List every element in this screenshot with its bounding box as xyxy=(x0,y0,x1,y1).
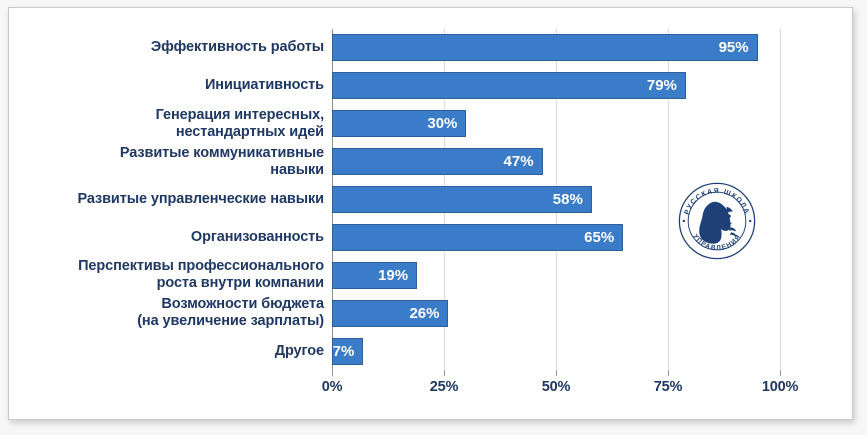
x-axis-tick xyxy=(780,370,781,376)
x-axis-tick-label: 75% xyxy=(654,379,682,395)
category-label: Генерация интересных,нестандартных идей xyxy=(24,107,324,141)
category-label-line: Инициативность xyxy=(24,77,324,94)
x-axis-tick xyxy=(444,370,445,376)
category-label: Возможности бюджета(на увеличение зарпла… xyxy=(24,296,324,330)
category-label: Развитые коммуникативныенавыки xyxy=(24,145,324,179)
x-axis-tick xyxy=(668,370,669,376)
category-label-line: Развитые коммуникативные xyxy=(24,145,324,162)
category-label-line: навыки xyxy=(24,162,324,179)
category-label-line: Другое xyxy=(24,343,324,360)
bar-value-label: 26% xyxy=(332,300,448,327)
bar-value-label: 7% xyxy=(332,338,363,365)
category-label: Инициативность xyxy=(24,77,324,94)
category-label: Другое xyxy=(24,343,324,360)
bar-chart: 0%25%50%75%100%95%Эффективность работы79… xyxy=(9,8,854,421)
bar-row: 19% xyxy=(332,262,780,289)
x-axis-tick-label: 100% xyxy=(762,379,798,395)
bar-value-label: 47% xyxy=(332,148,543,175)
gridline xyxy=(780,29,781,370)
lion-head-icon xyxy=(699,202,737,244)
chart-frame: 0%25%50%75%100%95%Эффективность работы79… xyxy=(8,7,853,420)
category-label-line: Эффективность работы xyxy=(24,39,324,56)
category-label-line: Перспективы профессионального xyxy=(24,258,324,275)
russian-school-of-management-logo: РУССКАЯ ШКОЛА УПРАВЛЕНИЯ xyxy=(677,181,757,261)
bar-value-label: 58% xyxy=(332,186,592,213)
category-label-line: нестандартных идей xyxy=(24,124,324,141)
category-label-line: Возможности бюджета xyxy=(24,296,324,313)
category-label-line: Развитые управленческие навыки xyxy=(24,191,324,208)
x-axis-tick xyxy=(556,370,557,376)
screenshot-root: 0%25%50%75%100%95%Эффективность работы79… xyxy=(0,0,867,435)
x-axis-tick-label: 25% xyxy=(430,379,458,395)
x-axis-tick-label: 50% xyxy=(542,379,570,395)
category-label-line: (на увеличение зарплаты) xyxy=(24,313,324,330)
category-label: Организованность xyxy=(24,229,324,246)
bar-row: 95% xyxy=(332,34,780,61)
category-label-line: Генерация интересных, xyxy=(24,107,324,124)
bar-value-label: 95% xyxy=(332,34,758,61)
x-axis-tick xyxy=(332,370,333,376)
category-label-line: роста внутри компании xyxy=(24,275,324,292)
category-label: Развитые управленческие навыки xyxy=(24,191,324,208)
category-label: Перспективы профессиональногороста внутр… xyxy=(24,258,324,292)
bar-row: 47% xyxy=(332,148,780,175)
x-axis-tick-label: 0% xyxy=(322,379,343,395)
bar-row: 79% xyxy=(332,72,780,99)
bar-value-label: 19% xyxy=(332,262,417,289)
bar-value-label: 65% xyxy=(332,224,623,251)
category-label: Эффективность работы xyxy=(24,39,324,56)
bar-row: 30% xyxy=(332,110,780,137)
bar-value-label: 79% xyxy=(332,72,686,99)
bar-value-label: 30% xyxy=(332,110,466,137)
bar-row: 7% xyxy=(332,338,780,365)
bar-row: 26% xyxy=(332,300,780,327)
category-label-line: Организованность xyxy=(24,229,324,246)
